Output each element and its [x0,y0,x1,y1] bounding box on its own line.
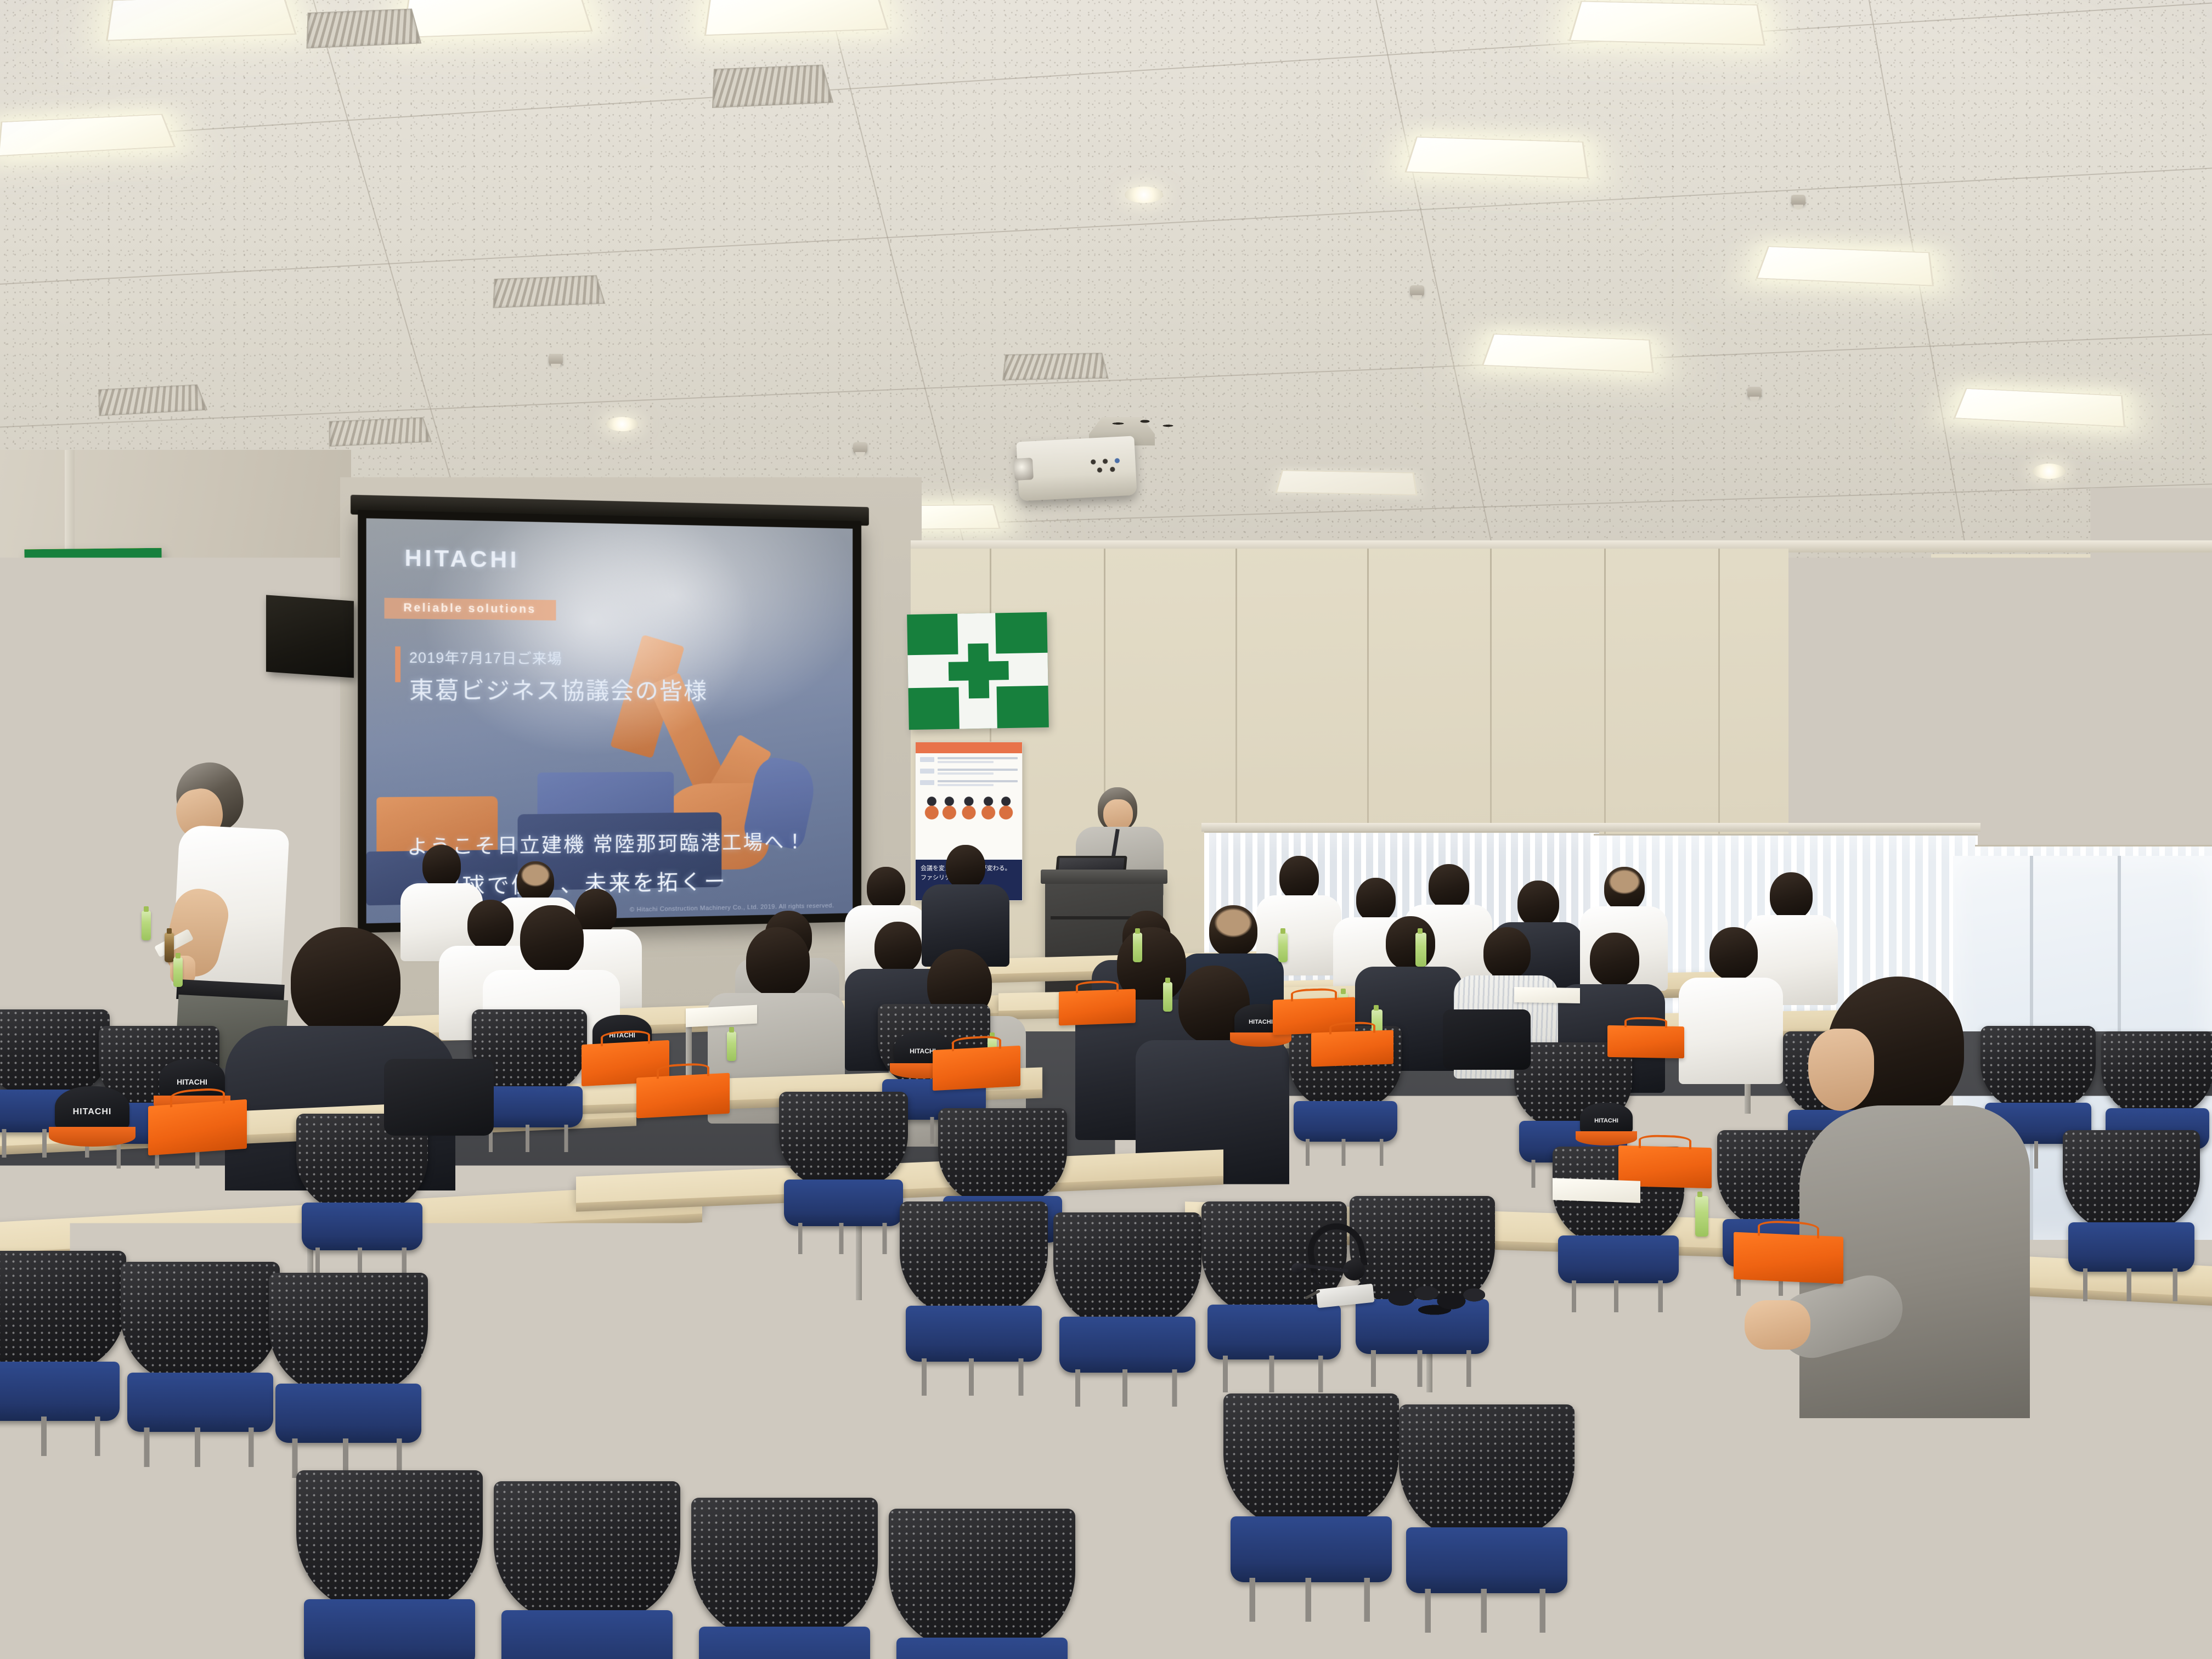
ceiling-light-panel [704,0,889,36]
drink-bottle[interactable] [1415,933,1426,967]
hand [1745,1300,1810,1350]
chair[interactable] [1970,1426,2156,1657]
air-vent [1002,353,1109,380]
projector-ports [1088,455,1132,475]
slide-audience-line: 東葛ビジネス協議会の皆様 [409,670,708,706]
sprinkler-head [853,442,867,453]
ceiling-light-panel [106,0,297,41]
ceiling-light-panel [1275,470,1417,495]
slide-accent-bar [395,646,400,682]
chair[interactable] [1053,1212,1201,1399]
drink-bottle[interactable] [1133,933,1142,962]
orange-tote-bag[interactable] [933,1046,1020,1091]
air-vent [306,9,421,49]
poster-text [938,757,1018,765]
poster-text [938,780,1018,788]
chair[interactable] [900,1201,1048,1388]
orange-tote-bag[interactable] [1734,1232,1843,1284]
reliable-solutions-band: Reliable solutions [384,597,556,620]
handout-papers[interactable] [1553,1178,1640,1203]
chair[interactable] [691,1498,878,1659]
cap-logo: HITACHI [71,1107,113,1117]
banner-line-main: 今日も一日 [110,646,156,811]
orange-tote-bag[interactable] [148,1099,247,1156]
table-leg [1920,1454,1926,1580]
poster-text [938,769,1018,776]
cap-logo: HITACHI [173,1077,210,1086]
ceiling-light-panel [1404,137,1589,178]
chair[interactable] [494,1481,680,1659]
sprinkler-head [549,354,563,365]
drink-bottle[interactable] [165,933,174,962]
head [291,927,400,1037]
ceiling-downlight [2033,464,2066,479]
green-cross-icon [116,882,157,914]
chair[interactable] [296,1114,428,1273]
right-wall-panel [1931,554,2212,861]
drink-bottle[interactable] [1163,982,1172,1012]
projector-lens [1014,458,1034,481]
cap-logo: HITACHI [1592,1118,1621,1125]
green-cross-safety-flag [907,612,1049,730]
banner-line-sub: ご安全に！ [41,644,104,867]
chair[interactable] [0,1251,126,1448]
drink-bottle[interactable] [173,957,183,987]
drink-bottle[interactable] [1695,1196,1708,1237]
poster-header-bar [916,742,1022,753]
chair[interactable] [296,1470,483,1659]
attendee-grey-suit [1783,977,2030,1415]
bag[interactable] [384,1059,494,1136]
ceiling-light-panel [402,0,592,38]
ceiling-light-panel [1870,5,2067,53]
orange-tote-bag[interactable] [1607,1025,1684,1058]
flag-cross-icon [948,643,1009,699]
slide-date-line: 2019年7月17日ご来場 [409,646,562,668]
hitachi-logo: HITACHI [404,545,519,573]
poster-row [920,780,1018,788]
sprinkler-head [1410,285,1424,296]
check-icon [920,769,934,774]
attendee [1679,927,1783,1084]
audio-guide-receivers[interactable] [1383,1278,1487,1322]
chair[interactable] [1223,1393,1399,1613]
poster-row [920,769,1018,776]
window-header [1201,823,1980,832]
ceiling-downlight [1125,187,1163,203]
drink-bottle[interactable] [142,911,151,940]
orange-tote-bag[interactable] [1059,989,1136,1026]
ceiling-downlight [606,417,638,431]
conference-room-photo: HITACHI Reliable solutions 2019年7月17日ご来場… [0,0,2212,1659]
air-vent [712,65,833,108]
chair[interactable] [269,1273,428,1470]
hitachi-cap[interactable]: HITACHI [55,1086,129,1131]
orange-tote-bag[interactable] [636,1073,730,1119]
chair[interactable] [889,1509,1075,1659]
poster-row [920,757,1018,765]
cap-logo: HITACHI [1246,1019,1276,1026]
chair[interactable] [2063,1130,2200,1295]
headset-with-microphone[interactable] [1295,1223,1377,1284]
ceiling-projector [1016,436,1137,501]
drink-bottle[interactable] [1278,933,1288,962]
chair[interactable] [779,1092,908,1248]
check-icon [920,780,934,785]
handout-papers[interactable] [1514,987,1580,1003]
check-icon [920,757,934,762]
lectern-top [1041,870,1167,884]
orange-tote-bag[interactable] [1311,1030,1393,1066]
air-vent [493,275,605,308]
handout-papers[interactable] [686,1005,757,1028]
face [1808,1029,1874,1111]
drink-bottle[interactable] [727,1031,736,1061]
hitachi-cap[interactable]: HITACHI [1580,1103,1633,1135]
microphone-capsule [1291,1263,1304,1274]
bag[interactable] [148,1163,274,1245]
safety-slogan-banner: 今日も一日 ご安全に！ [24,548,165,923]
sprinkler-head [1747,387,1762,398]
wall-speaker [266,595,354,678]
ceiling-light-panel [1568,1,1765,46]
bag[interactable] [1443,1009,1531,1070]
poster-illustration [920,792,1018,827]
air-vent [329,417,432,447]
chair[interactable] [1399,1404,1575,1624]
chair[interactable] [121,1262,280,1459]
projector-cables [1103,413,1180,435]
sprinkler-head [1791,195,1805,206]
